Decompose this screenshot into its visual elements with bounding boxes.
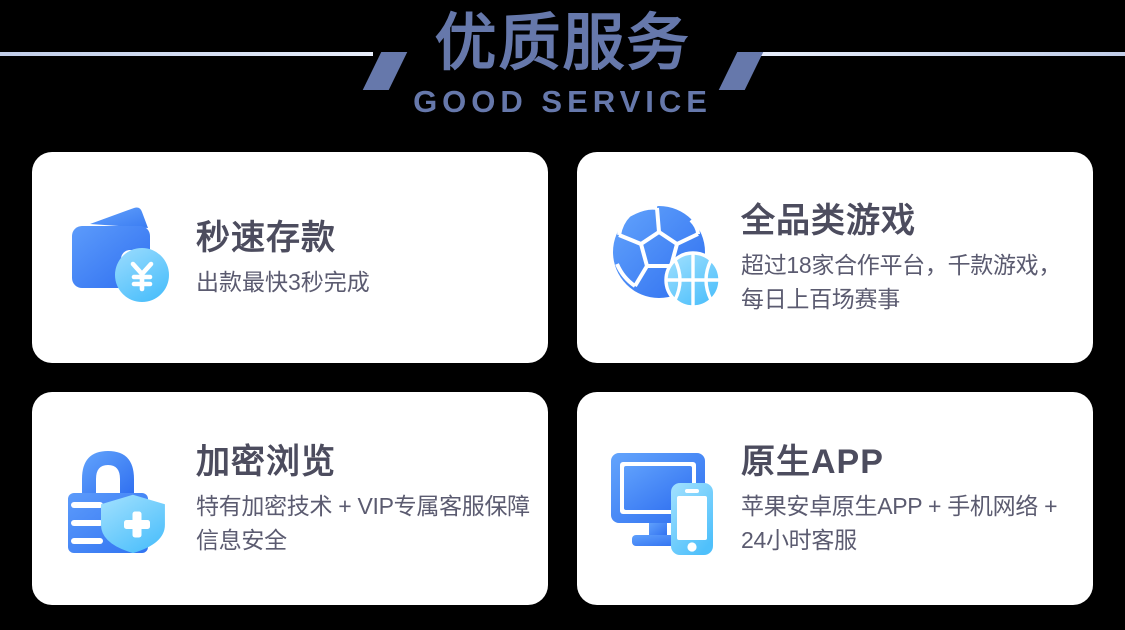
card-text-block: 加密浏览 特有加密技术 + VIP专属客服保障信息安全 xyxy=(196,441,530,557)
card-description: 超过18家合作平台，千款游戏，每日上百场赛事 xyxy=(741,248,1075,316)
feature-card-native-app[interactable]: 原生APP 苹果安卓原生APP + 手机网络 + 24小时客服 xyxy=(577,392,1093,605)
page-header: 优质服务 GOOD SERVICE xyxy=(0,0,1125,148)
card-description: 特有加密技术 + VIP专属客服保障信息安全 xyxy=(196,489,530,557)
card-description: 出款最快3秒完成 xyxy=(196,265,530,299)
feature-card-deposit[interactable]: 秒速存款 出款最快3秒完成 xyxy=(32,152,548,363)
card-text-block: 秒速存款 出款最快3秒完成 xyxy=(196,217,530,299)
lock-shield-icon xyxy=(60,437,184,561)
monitor-phone-icon xyxy=(605,437,729,561)
card-text-block: 原生APP 苹果安卓原生APP + 手机网络 + 24小时客服 xyxy=(741,441,1075,557)
card-description: 苹果安卓原生APP + 手机网络 + 24小时客服 xyxy=(741,489,1075,557)
feature-card-encryption[interactable]: 加密浏览 特有加密技术 + VIP专属客服保障信息安全 xyxy=(32,392,548,605)
promo-page: 优质服务 GOOD SERVICE xyxy=(0,0,1125,630)
card-title: 加密浏览 xyxy=(196,441,530,483)
page-subtitle: GOOD SERVICE xyxy=(0,84,1125,120)
card-text-block: 全品类游戏 超过18家合作平台，千款游戏，每日上百场赛事 xyxy=(741,200,1075,316)
wallet-icon xyxy=(60,196,184,320)
page-title: 优质服务 xyxy=(0,8,1125,80)
feature-card-games[interactable]: 全品类游戏 超过18家合作平台，千款游戏，每日上百场赛事 xyxy=(577,152,1093,363)
header-title-block: 优质服务 GOOD SERVICE xyxy=(0,8,1125,120)
feature-card-grid: 秒速存款 出款最快3秒完成 xyxy=(32,152,1093,605)
soccer-basketball-icon xyxy=(605,196,729,320)
card-title: 全品类游戏 xyxy=(741,200,1075,242)
card-title: 原生APP xyxy=(741,441,1075,483)
card-title: 秒速存款 xyxy=(196,217,530,259)
